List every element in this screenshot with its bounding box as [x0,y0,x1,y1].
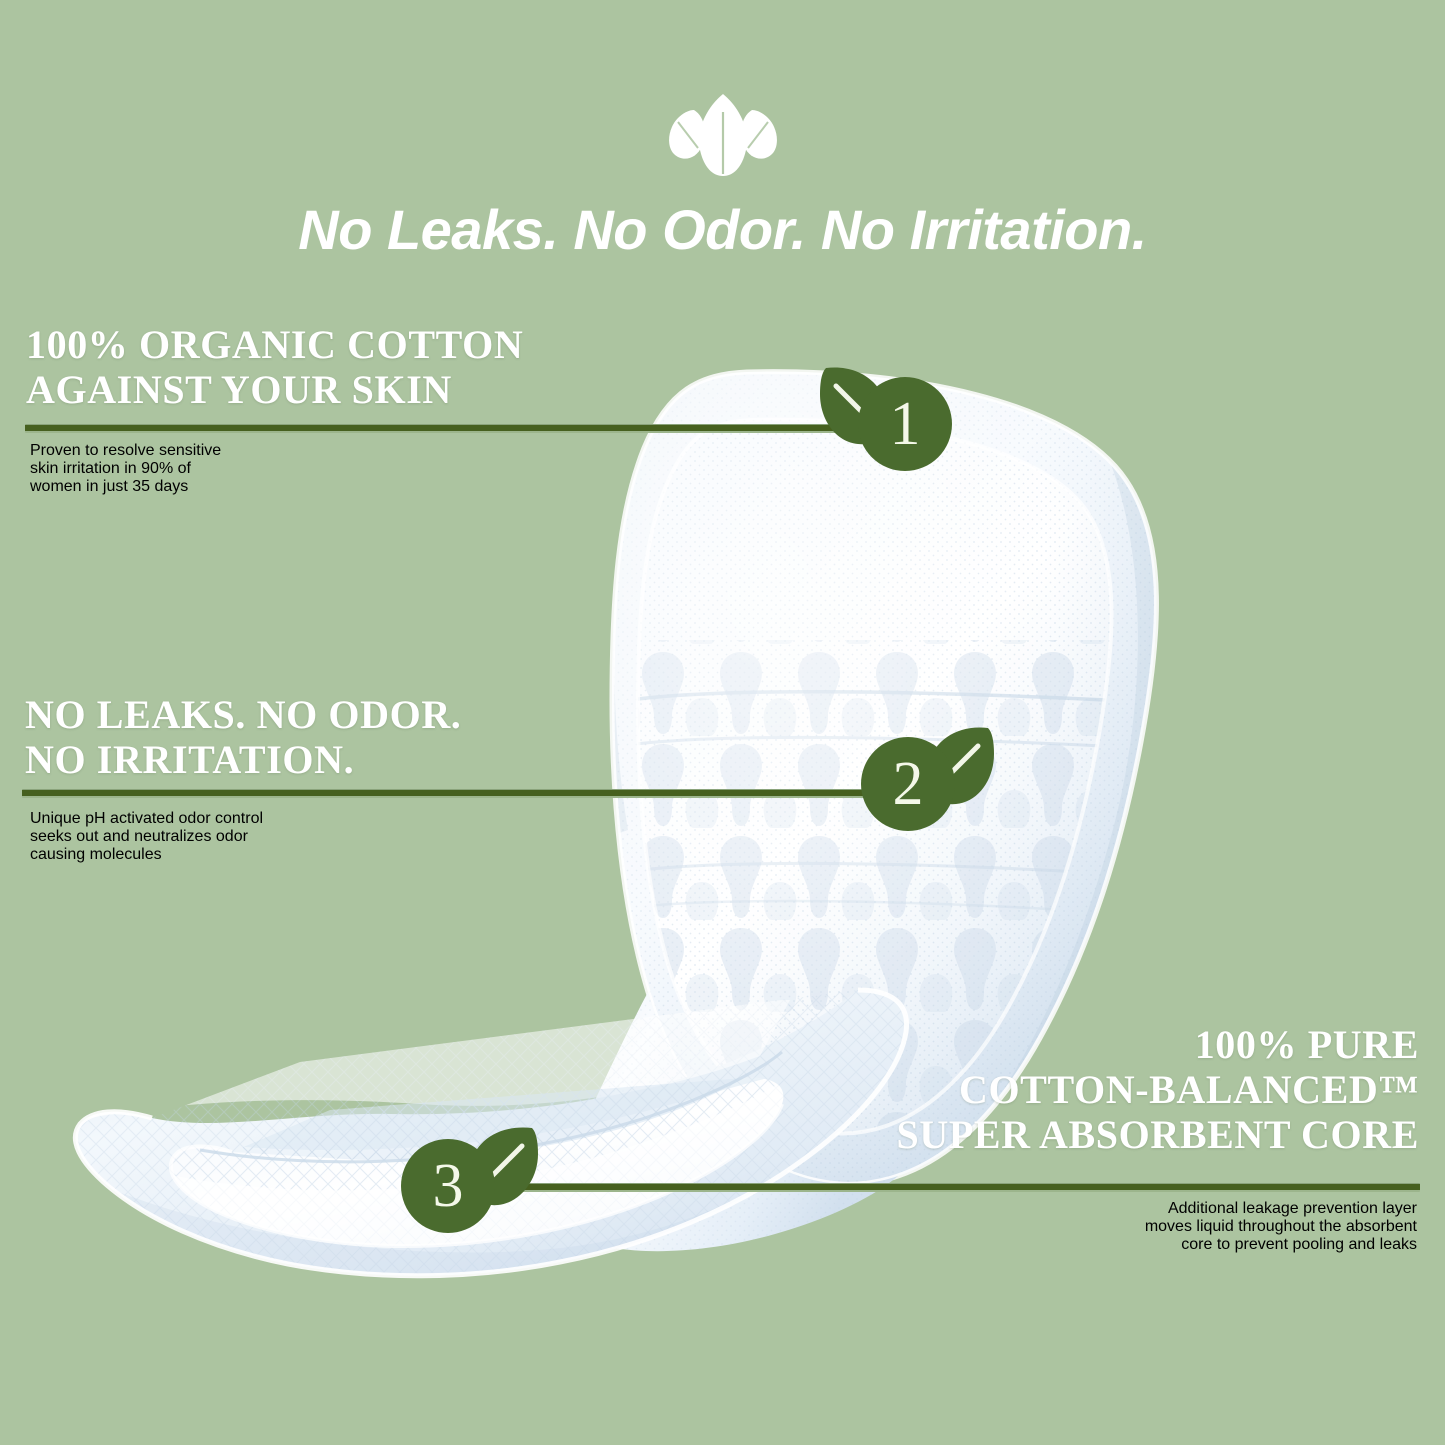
feature-3-rule [468,1183,1420,1192]
feature-2-body: Unique pH activated odor control seeks o… [30,810,263,864]
feature-1-body-line-1: Proven to resolve sensitive [30,442,221,460]
feature-1-kicker: 100% ORGANIC COTTON AGAINST YOUR SKIN [26,322,523,412]
feature-3-kicker-line-2: COTTON-BALANCED™ [896,1067,1419,1112]
feature-1-body-line-3: women in just 35 days [30,478,221,496]
feature-1-badge: 1 [812,362,962,480]
feature-3-kicker-line-1: 100% PURE [896,1022,1419,1067]
feature-1-kicker-line-1: 100% ORGANIC COTTON [26,322,523,367]
feature-2-body-line-1: Unique pH activated odor control [30,810,263,828]
feature-3-kicker-line-3: SUPER ABSORBENT CORE [896,1112,1419,1157]
feature-2-kicker-line-1: NO LEAKS. NO ODOR. [25,692,461,737]
feature-block-2: NO LEAKS. NO ODOR. NO IRRITATION. [25,692,461,782]
feature-3-badge: 3 [396,1124,546,1242]
feature-3-body-line-1: Additional leakage prevention layer [1145,1200,1417,1218]
feature-1-body-line-2: skin irritation in 90% of [30,460,221,478]
feature-3-body-line-2: moves liquid throughout the absorbent [1145,1218,1417,1236]
feature-1-body: Proven to resolve sensitive skin irritat… [30,442,221,496]
infographic-canvas: No Leaks. No Odor. No Irritation. 100% O… [0,0,1445,1445]
feature-1-rule [25,424,880,433]
feature-2-rule [22,789,882,798]
three-leaves-icon [648,92,798,177]
feature-3-kicker: 100% PURE COTTON-BALANCED™ SUPER ABSORBE… [896,1022,1419,1158]
feature-3-body: Additional leakage prevention layer move… [1145,1200,1417,1254]
feature-2-badge: 2 [852,722,1002,840]
page-title: No Leaks. No Odor. No Irritation. [0,197,1445,262]
feature-2-body-line-3: causing molecules [30,846,263,864]
feature-1-badge-number: 1 [890,390,921,458]
feature-2-kicker-line-2: NO IRRITATION. [25,737,461,782]
feature-2-badge-number: 2 [893,750,924,818]
header: No Leaks. No Odor. No Irritation. [0,0,1445,262]
feature-2-kicker: NO LEAKS. NO ODOR. NO IRRITATION. [25,692,461,782]
feature-1-kicker-line-2: AGAINST YOUR SKIN [26,367,523,412]
feature-2-body-line-2: seeks out and neutralizes odor [30,828,263,846]
feature-3-badge-number: 3 [433,1152,464,1220]
pad-waist [549,992,898,1251]
feature-block-3: 100% PURE COTTON-BALANCED™ SUPER ABSORBE… [896,1022,1419,1158]
feature-block-1: 100% ORGANIC COTTON AGAINST YOUR SKIN [26,322,523,412]
feature-3-body-line-3: core to prevent pooling and leaks [1145,1236,1417,1254]
